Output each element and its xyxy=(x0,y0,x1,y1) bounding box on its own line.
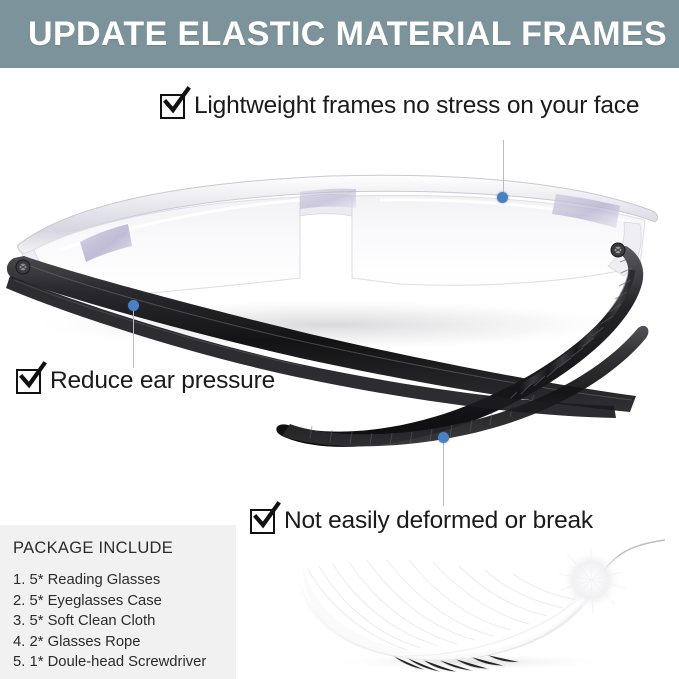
package-item-text: 1* Doule-head Screwdriver xyxy=(29,654,206,670)
leader-line-ear-pressure xyxy=(133,310,134,368)
feature-label-ear-pressure: Reduce ear pressure xyxy=(50,367,275,395)
package-include-list: 1. 5* Reading Glasses 2. 5* Eyeglasses C… xyxy=(13,570,226,673)
check-mark-icon xyxy=(17,362,47,392)
package-item-number: 4. xyxy=(13,632,25,653)
package-item-number: 1. xyxy=(13,570,25,591)
feature-ear-pressure: Reduce ear pressure xyxy=(16,367,275,395)
leader-line-lightweight xyxy=(503,140,504,196)
page-title: UPDATE ELASTIC MATERIAL FRAMES xyxy=(28,15,667,54)
feature-label-lightweight: Lightweight frames no stress on your fac… xyxy=(194,92,639,120)
white-feather-photo xyxy=(255,538,679,679)
package-list-item: 3. 5* Soft Clean Cloth xyxy=(13,611,226,632)
feature-label-not-deformed: Not easily deformed or break xyxy=(284,507,593,535)
package-include-panel: PACKAGE INCLUDE 1. 5* Reading Glasses 2.… xyxy=(0,525,236,679)
package-include-heading: PACKAGE INCLUDE xyxy=(13,539,226,558)
feather-illustration xyxy=(255,538,679,679)
package-list-item: 4. 2* Glasses Rope xyxy=(13,632,226,653)
package-item-number: 5. xyxy=(13,652,25,673)
reading-glasses-photo xyxy=(0,150,679,480)
check-mark-icon xyxy=(161,87,191,117)
feature-lightweight: Lightweight frames no stress on your fac… xyxy=(160,92,639,120)
product-infographic: UPDATE ELASTIC MATERIAL FRAMES xyxy=(0,0,679,679)
check-mark-icon xyxy=(251,502,281,532)
feature-not-deformed: Not easily deformed or break xyxy=(250,507,593,535)
checkbox-checked-icon xyxy=(16,369,41,394)
package-list-item: 5. 1* Doule-head Screwdriver xyxy=(13,652,226,673)
package-item-number: 3. xyxy=(13,611,25,632)
package-list-item: 2. 5* Eyeglasses Case xyxy=(13,591,226,612)
package-item-text: 5* Reading Glasses xyxy=(29,572,160,588)
leader-line-not-deformed xyxy=(443,442,444,506)
package-item-number: 2. xyxy=(13,591,25,612)
package-item-text: 2* Glasses Rope xyxy=(29,634,140,650)
callout-dot-not-deformed xyxy=(438,432,449,443)
package-list-item: 1. 5* Reading Glasses xyxy=(13,570,226,591)
callout-dot-ear-pressure xyxy=(128,300,139,311)
callout-dot-lightweight xyxy=(497,192,508,203)
package-item-text: 5* Eyeglasses Case xyxy=(29,593,161,609)
glasses-illustration xyxy=(0,150,679,480)
package-item-text: 5* Soft Clean Cloth xyxy=(29,613,155,629)
checkbox-checked-icon xyxy=(160,94,185,119)
checkbox-checked-icon xyxy=(250,509,275,534)
header-banner: UPDATE ELASTIC MATERIAL FRAMES xyxy=(0,0,679,68)
